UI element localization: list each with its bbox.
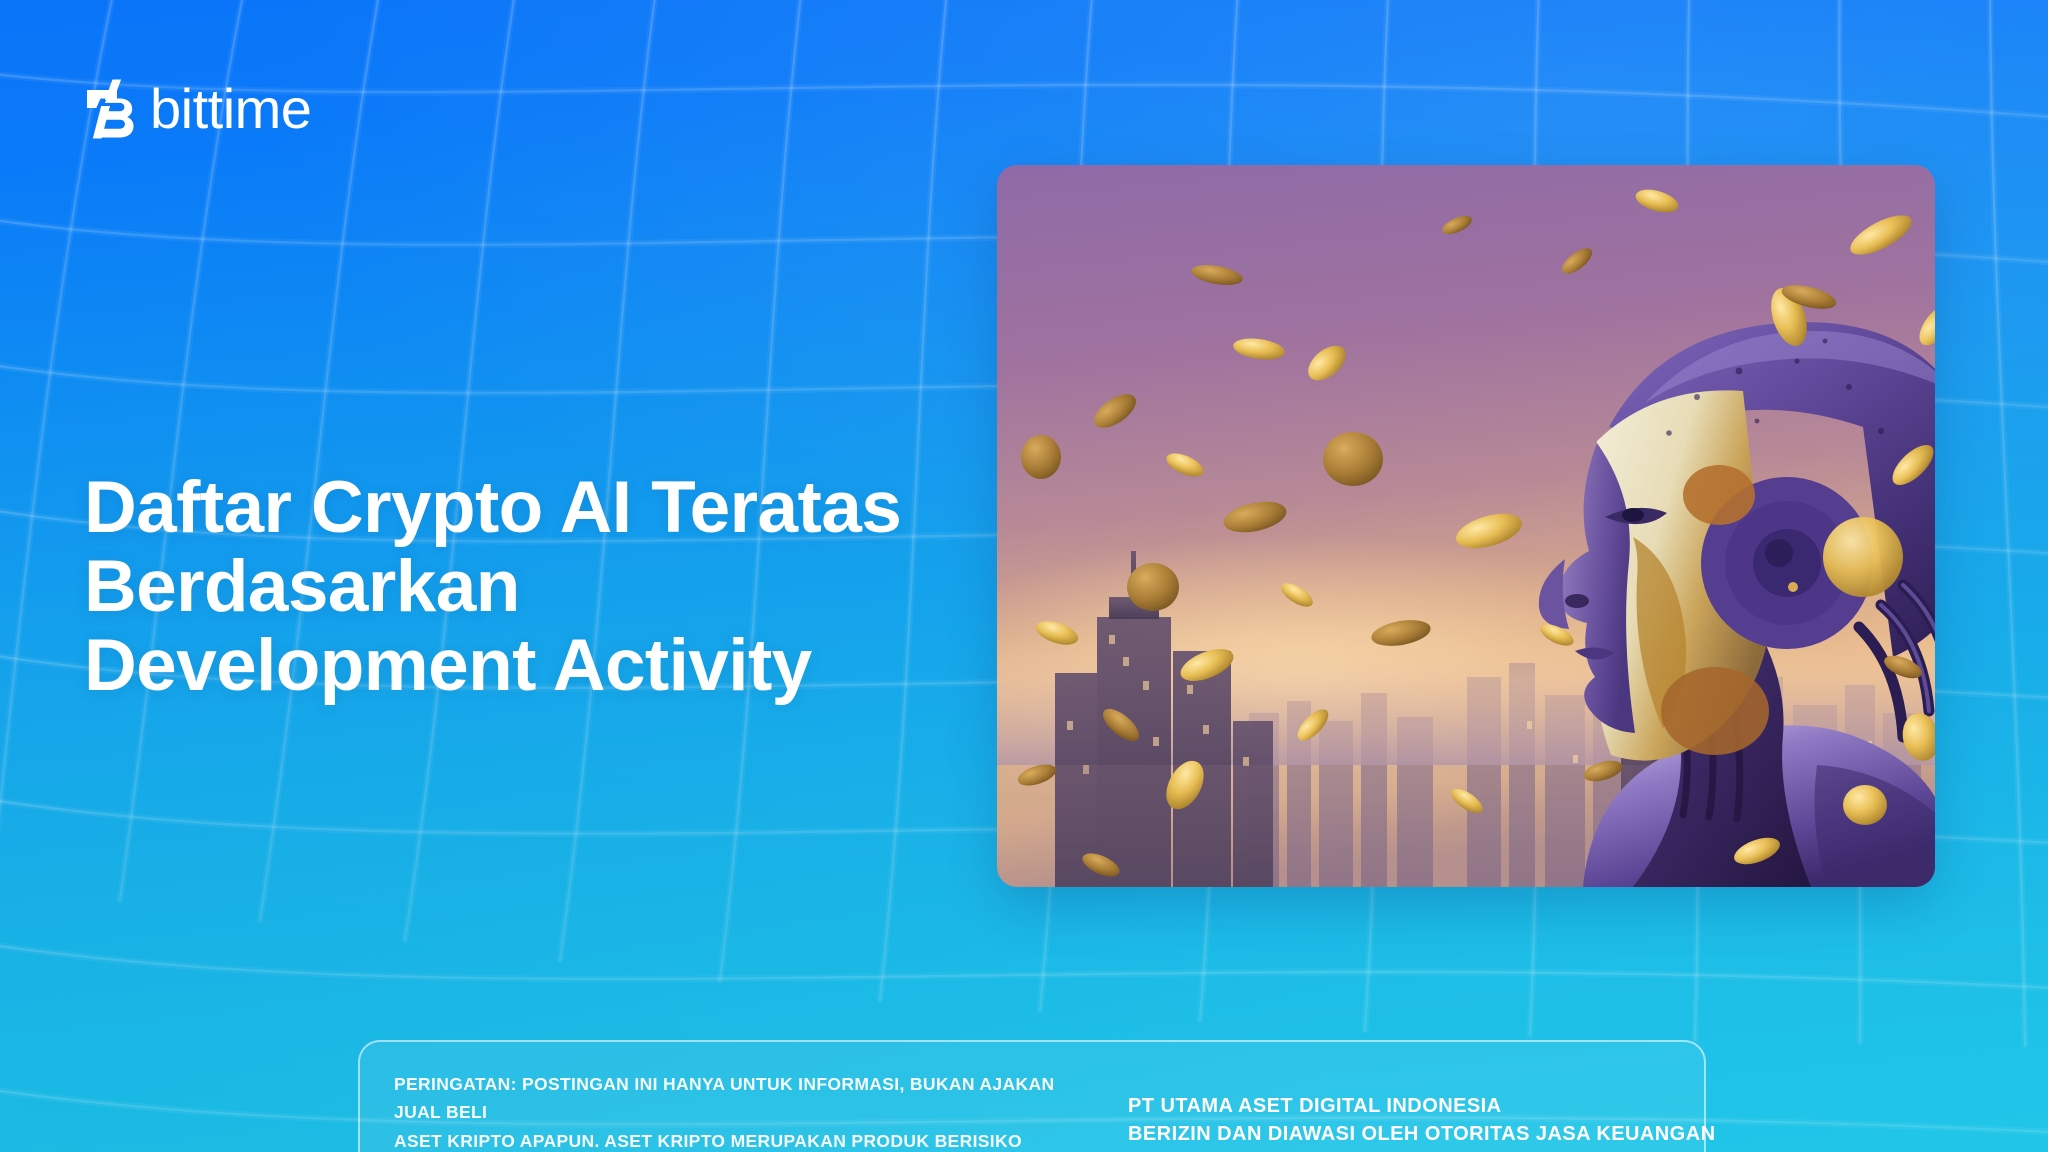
brand-name: bittime [150, 81, 311, 137]
headline-line-2: Berdasarkan [84, 548, 1014, 627]
bitcoin-b-icon [84, 78, 136, 140]
headline-line-3: Development Activity [84, 627, 1014, 706]
license-notice: PT UTAMA ASET DIGITAL INDONESIA BERIZIN … [1128, 1070, 1715, 1149]
legal-footer-box: PERINGATAN: POSTINGAN INI HANYA UNTUK IN… [358, 1040, 1706, 1152]
brand-logo[interactable]: bittime [84, 78, 311, 140]
banner-canvas: bittime Daftar Crypto AI Teratas Berdasa… [0, 0, 2048, 1152]
disclaimer-line-2: ASET KRIPTO APAPUN. ASET KRIPTO MERUPAKA… [394, 1127, 1084, 1152]
risk-disclaimer: PERINGATAN: POSTINGAN INI HANYA UNTUK IN… [394, 1070, 1084, 1152]
license-line-1: PT UTAMA ASET DIGITAL INDONESIA [1128, 1092, 1715, 1120]
license-line-2: BERIZIN DAN DIAWASI OLEH OTORITAS JASA K… [1128, 1120, 1715, 1148]
disclaimer-line-1: PERINGATAN: POSTINGAN INI HANYA UNTUK IN… [394, 1070, 1084, 1127]
hero-image-card [997, 165, 1935, 887]
headline-line-1: Daftar Crypto AI Teratas [84, 469, 1014, 548]
page-title: Daftar Crypto AI Teratas Berdasarkan Dev… [84, 469, 1014, 705]
